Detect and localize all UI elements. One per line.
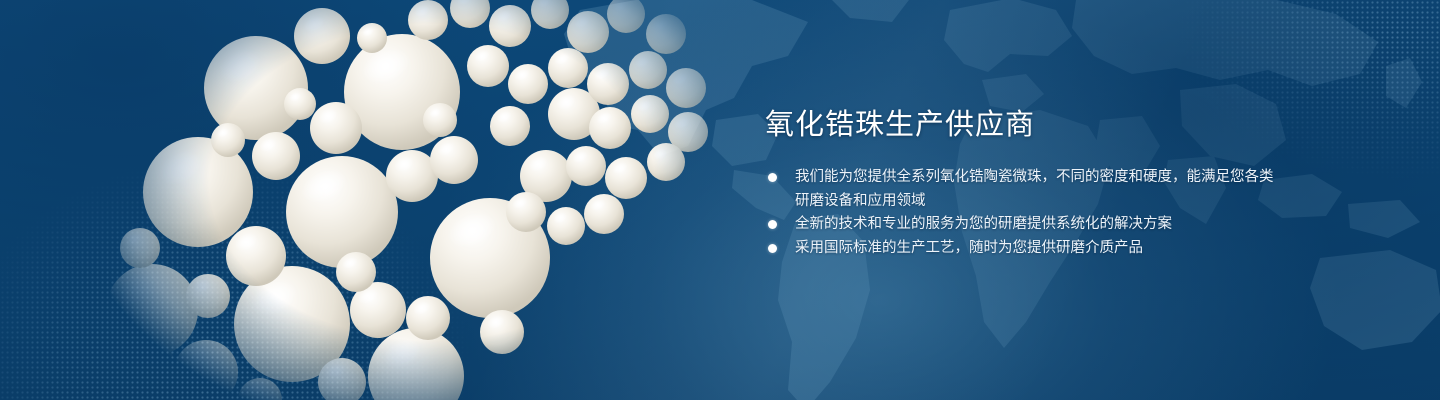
list-item-text: 我们能为您提供全系列氧化锆陶瓷微珠，不同的密度和硬度，能满足您各类研磨设备和应用… bbox=[795, 169, 1274, 209]
list-item: 我们能为您提供全系列氧化锆陶瓷微珠，不同的密度和硬度，能满足您各类研磨设备和应用… bbox=[767, 166, 1285, 213]
banner-copy: 氧化锆珠生产供应商 我们能为您提供全系列氧化锆陶瓷微珠，不同的密度和硬度，能满足… bbox=[765, 106, 1285, 260]
bullet-dot-icon bbox=[768, 244, 777, 253]
hero-banner: 氧化锆珠生产供应商 我们能为您提供全系列氧化锆陶瓷微珠，不同的密度和硬度，能满足… bbox=[0, 0, 1440, 400]
bullet-dot-icon bbox=[768, 220, 777, 229]
zirconia-beads-photo bbox=[110, 0, 730, 400]
bullet-dot-icon bbox=[768, 173, 777, 182]
list-item: 全新的技术和专业的服务为您的研磨提供系统化的解决方案 bbox=[767, 213, 1285, 237]
feature-list: 我们能为您提供全系列氧化锆陶瓷微珠，不同的密度和硬度，能满足您各类研磨设备和应用… bbox=[767, 166, 1285, 260]
list-item: 采用国际标准的生产工艺，随时为您提供研磨介质产品 bbox=[767, 237, 1285, 261]
list-item-text: 采用国际标准的生产工艺，随时为您提供研磨介质产品 bbox=[795, 240, 1143, 256]
page-title: 氧化锆珠生产供应商 bbox=[765, 106, 1285, 144]
list-item-text: 全新的技术和专业的服务为您的研磨提供系统化的解决方案 bbox=[795, 216, 1172, 232]
